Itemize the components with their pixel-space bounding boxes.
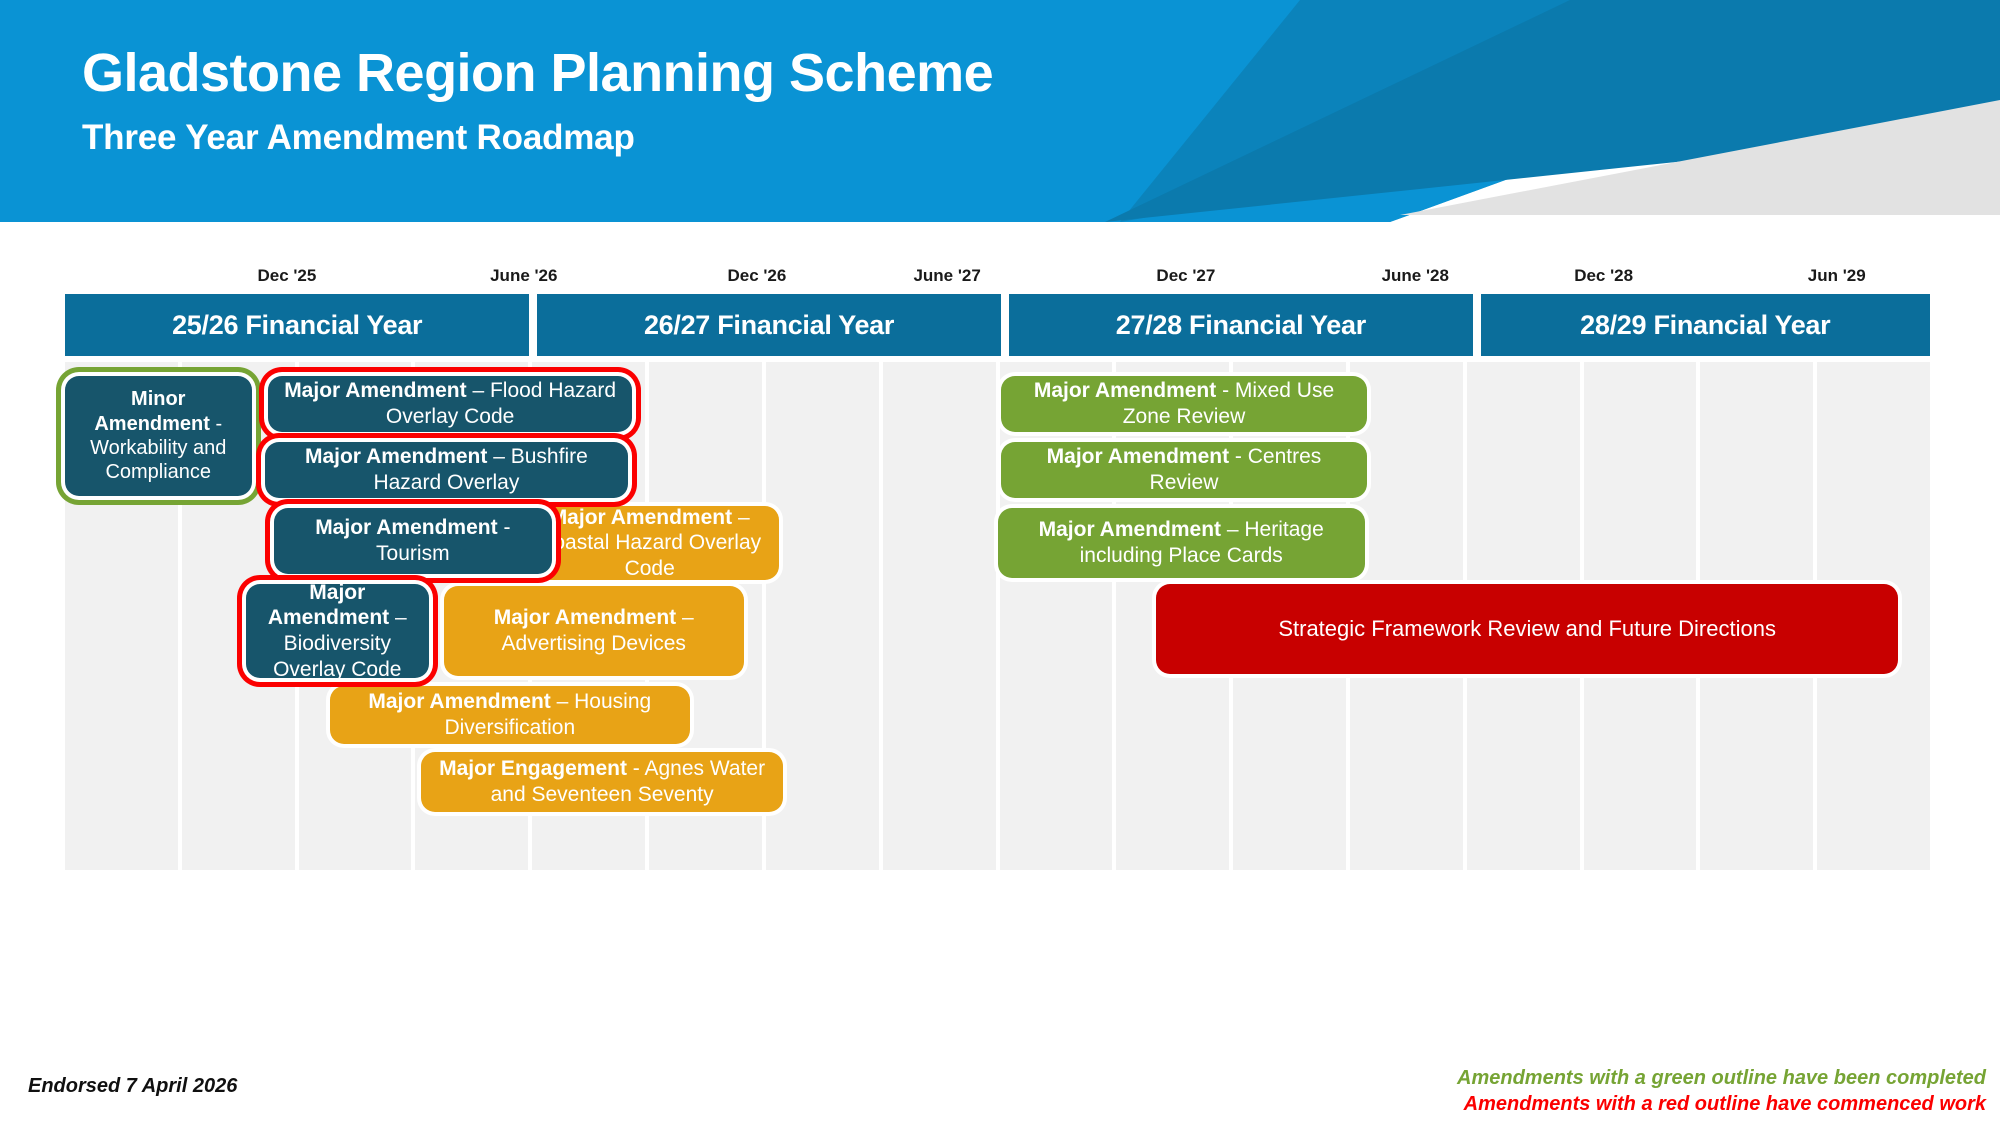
- roadmap-bar-label: Major Amendment – Bushfire Hazard Overla…: [275, 444, 619, 495]
- roadmap-bar-label: Major Amendment - Centres Review: [1011, 444, 1357, 495]
- roadmap-bar-label: Major Amendment – Advertising Devices: [454, 605, 734, 656]
- roadmap-bar-label: Major Amendment – Biodiversity Overlay C…: [256, 580, 419, 682]
- roadmap-bar-label-bold: Major Amendment: [494, 606, 676, 629]
- timeline-tick-label: June '26: [490, 266, 557, 286]
- timeline-tick-label: Dec '26: [727, 266, 786, 286]
- timeline-tick-label: June '28: [1382, 266, 1449, 286]
- page-subtitle: Three Year Amendment Roadmap: [82, 118, 635, 158]
- roadmap-bar-label: Major Amendment – Coastal Hazard Overlay…: [530, 505, 769, 582]
- roadmap-bar-label-bold: Major Engagement: [439, 757, 627, 780]
- financial-year-header: 28/29 Financial Year: [1481, 294, 1930, 356]
- timeline-tick-label: Dec '25: [257, 266, 316, 286]
- timeline-tick-labels: Dec '25June '26Dec '26June '27Dec '27Jun…: [0, 266, 2000, 292]
- roadmap-bar-label-bold: Major Amendment: [368, 690, 550, 713]
- roadmap-bar-label: Major Amendment – Flood Hazard Overlay C…: [278, 378, 622, 429]
- legend-green-outline-note: Amendments with a green outline have bee…: [1457, 1065, 1986, 1091]
- timeline-tick-label: Dec '27: [1156, 266, 1215, 286]
- financial-year-header: 27/28 Financial Year: [1009, 294, 1473, 356]
- roadmap-bar[interactable]: Major Amendment - Mixed Use Zone Review: [1001, 376, 1367, 432]
- roadmap-bar[interactable]: Major Amendment – Coastal Hazard Overlay…: [520, 506, 779, 580]
- roadmap-bar-label-rest: Strategic Framework Review and Future Di…: [1278, 616, 1776, 641]
- roadmap-bar[interactable]: Major Amendment - Tourism: [274, 508, 552, 574]
- roadmap-bar-label-bold: Major Amendment: [1047, 445, 1229, 468]
- roadmap-bar[interactable]: Major Amendment – Housing Diversificatio…: [330, 686, 690, 744]
- roadmap-bar-label: Major Amendment – Heritage including Pla…: [1008, 517, 1355, 568]
- roadmap-bar-label-bold: Major Amendment: [550, 506, 732, 529]
- roadmap-bar-label-bold: Major Amendment: [284, 379, 466, 402]
- roadmap-bar-label: Strategic Framework Review and Future Di…: [1278, 616, 1776, 643]
- legend-red-outline-note: Amendments with a red outline have comme…: [1457, 1091, 1986, 1117]
- roadmap-bar-label-bold: Major Amendment: [315, 516, 497, 539]
- roadmap-bar-label: Major Amendment - Tourism: [284, 515, 542, 566]
- roadmap-bar-label: Major Amendment - Mixed Use Zone Review: [1011, 378, 1357, 429]
- roadmap-bar[interactable]: Major Amendment – Advertising Devices: [444, 586, 744, 676]
- financial-year-header: 25/26 Financial Year: [65, 294, 529, 356]
- timeline-tick-label: Dec '28: [1574, 266, 1633, 286]
- roadmap-bar-label: Major Amendment – Housing Diversificatio…: [340, 689, 680, 740]
- roadmap-bar[interactable]: Major Amendment – Biodiversity Overlay C…: [246, 584, 429, 678]
- roadmap-bar[interactable]: Minor Amendment - Workability and Compli…: [65, 376, 252, 496]
- roadmap-bar-label-bold: Major Amendment: [305, 445, 487, 468]
- timeline-tick-label: Jun '29: [1808, 266, 1866, 286]
- endorsed-date: Endorsed 7 April 2026: [28, 1075, 237, 1098]
- roadmap-bar-label: Major Engagement - Agnes Water and Seven…: [431, 756, 773, 807]
- roadmap-bar-label-bold: Major Amendment: [1039, 518, 1221, 541]
- page-title: Gladstone Region Planning Scheme: [82, 42, 993, 104]
- roadmap-bar-label-bold: Minor Amendment: [94, 388, 210, 434]
- financial-year-header-row: 25/26 Financial Year26/27 Financial Year…: [65, 294, 1930, 356]
- financial-year-header: 26/27 Financial Year: [537, 294, 1001, 356]
- roadmap-bars-layer: Minor Amendment - Workability and Compli…: [65, 362, 1930, 870]
- roadmap-bar-label-bold: Major Amendment: [1034, 379, 1216, 402]
- roadmap-bar[interactable]: Major Amendment – Heritage including Pla…: [998, 508, 1365, 578]
- roadmap-bar[interactable]: Major Engagement - Agnes Water and Seven…: [421, 752, 783, 812]
- roadmap-bar[interactable]: Major Amendment - Centres Review: [1001, 442, 1367, 498]
- roadmap-bar[interactable]: Strategic Framework Review and Future Di…: [1156, 584, 1898, 674]
- header-banner: Gladstone Region Planning Scheme Three Y…: [0, 0, 2000, 222]
- legend: Amendments with a green outline have bee…: [1457, 1065, 1986, 1118]
- roadmap-bar[interactable]: Major Amendment – Flood Hazard Overlay C…: [268, 376, 632, 432]
- roadmap-bar[interactable]: Major Amendment – Bushfire Hazard Overla…: [265, 442, 629, 498]
- timeline-tick-label: June '27: [913, 266, 980, 286]
- roadmap-bar-label: Minor Amendment - Workability and Compli…: [75, 387, 242, 485]
- roadmap-bar-label-bold: Major Amendment: [268, 581, 389, 630]
